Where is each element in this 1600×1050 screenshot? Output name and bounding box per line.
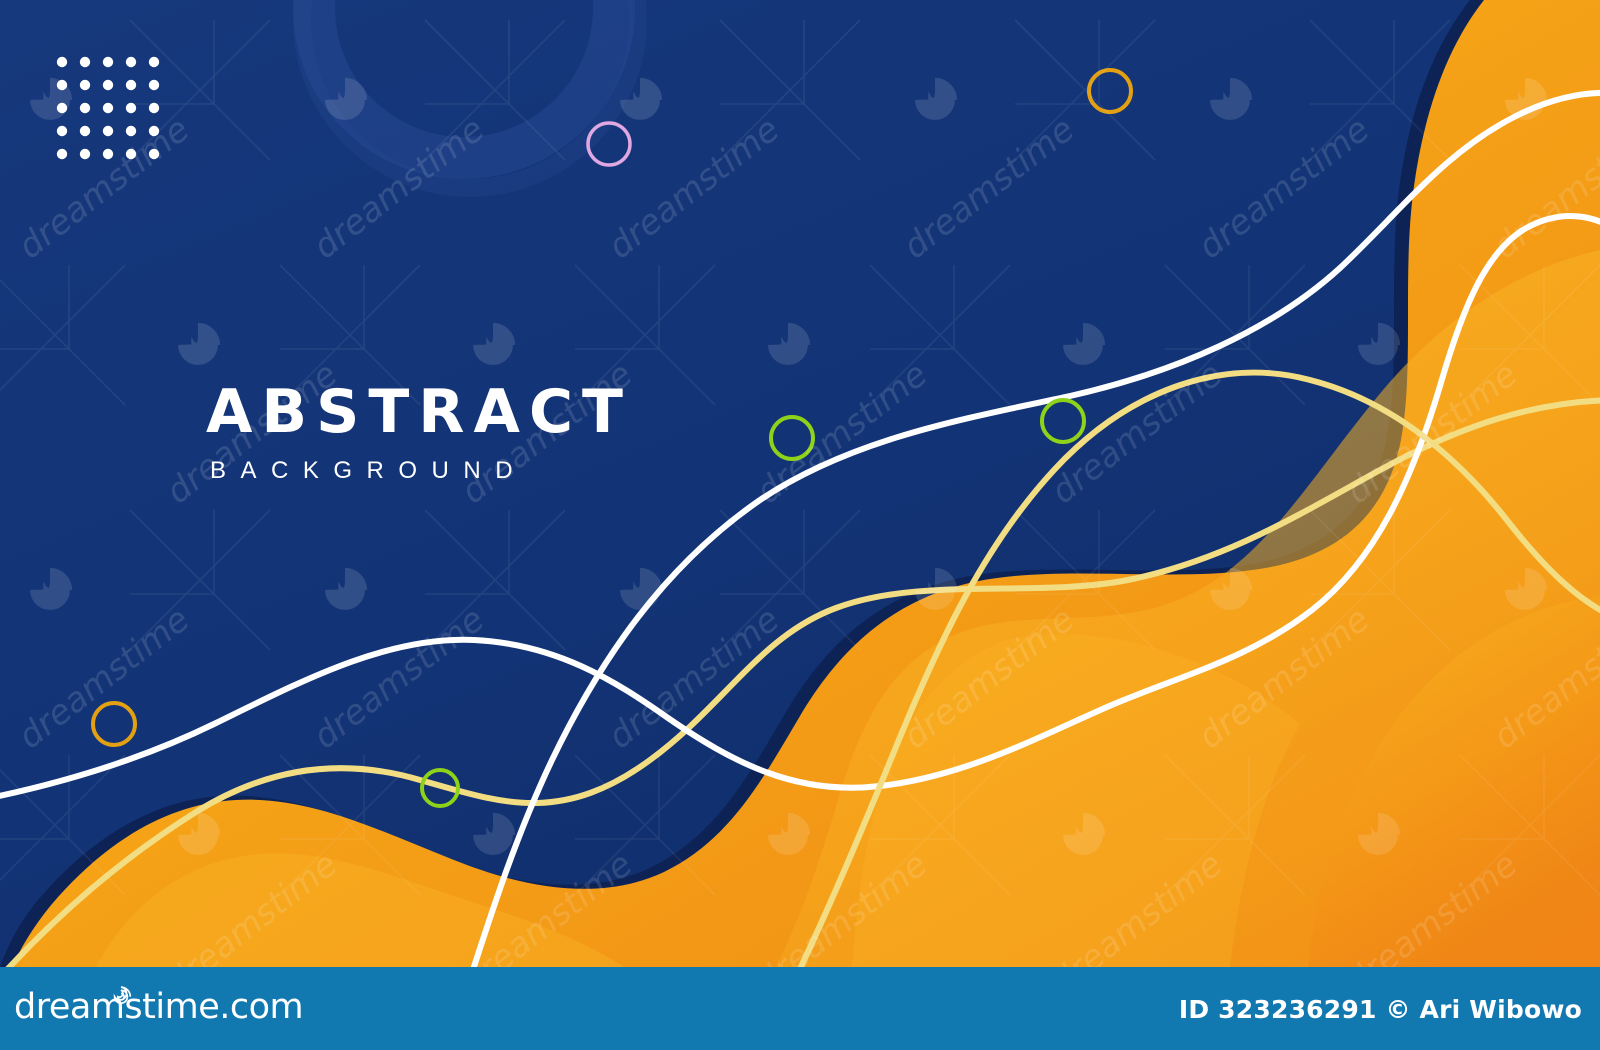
dreamstime-brand-text: dreamstime.com bbox=[14, 987, 303, 1027]
image-credit-text: ID 323236291 © Ari Wibowo bbox=[1179, 995, 1582, 1024]
footer-bar: dreamstime.com ID 323236291 © Ari Wibowo bbox=[0, 967, 1600, 1050]
artwork-svg bbox=[0, 0, 1600, 967]
artwork-canvas: ABSTRACT BACKGROUND bbox=[0, 0, 1600, 967]
abstract-background-image: ABSTRACT BACKGROUND bbox=[0, 0, 1600, 1050]
